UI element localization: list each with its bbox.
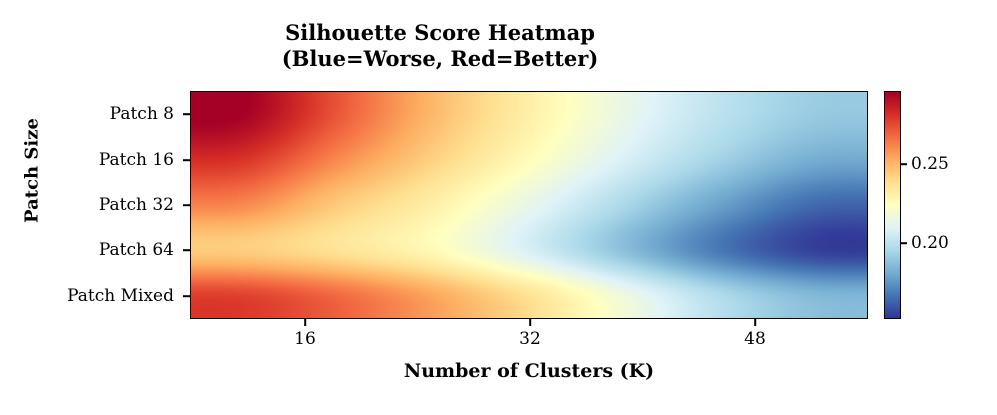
y-axis-tick-label: Patch 16 bbox=[14, 150, 174, 170]
x-axis-tick-label: 32 bbox=[490, 329, 570, 349]
y-axis-tick-mark bbox=[183, 204, 190, 206]
y-axis-tick-mark bbox=[183, 249, 190, 251]
x-axis-tick-mark bbox=[529, 319, 531, 326]
chart-figure: Silhouette Score Heatmap (Blue=Worse, Re… bbox=[0, 0, 997, 415]
colorbar-tick-mark bbox=[901, 163, 907, 165]
y-axis-tick-labels: Patch 8Patch 16Patch 32Patch 64Patch Mix… bbox=[14, 0, 174, 415]
y-axis-tick-label: Patch Mixed bbox=[14, 286, 174, 306]
y-axis-tick-mark bbox=[183, 113, 190, 115]
y-axis-tick-label: Patch 8 bbox=[14, 104, 174, 124]
title-line-1: Silhouette Score Heatmap bbox=[285, 20, 595, 45]
colorbar-tick-label: 0.25 bbox=[911, 154, 949, 174]
x-axis-tick-label: 48 bbox=[715, 329, 795, 349]
colorbar bbox=[884, 91, 901, 319]
colorbar-tick-label: 0.20 bbox=[911, 233, 949, 253]
x-axis-tick-mark bbox=[754, 319, 756, 326]
x-axis-tick-label: 16 bbox=[265, 329, 345, 349]
y-axis-tick-mark bbox=[183, 159, 190, 161]
y-axis-tick-label: Patch 64 bbox=[14, 240, 174, 260]
x-axis-tick-mark bbox=[304, 319, 306, 326]
y-axis-tick-label: Patch 32 bbox=[14, 195, 174, 215]
title-line-2: (Blue=Worse, Red=Better) bbox=[282, 46, 599, 71]
colorbar-tick-mark bbox=[901, 242, 907, 244]
heatmap-image bbox=[191, 92, 867, 318]
y-axis-tick-mark bbox=[183, 295, 190, 297]
colorbar-gradient bbox=[885, 92, 900, 318]
x-axis-title: Number of Clusters (K) bbox=[190, 360, 868, 382]
heatmap-plot-area bbox=[190, 91, 868, 319]
